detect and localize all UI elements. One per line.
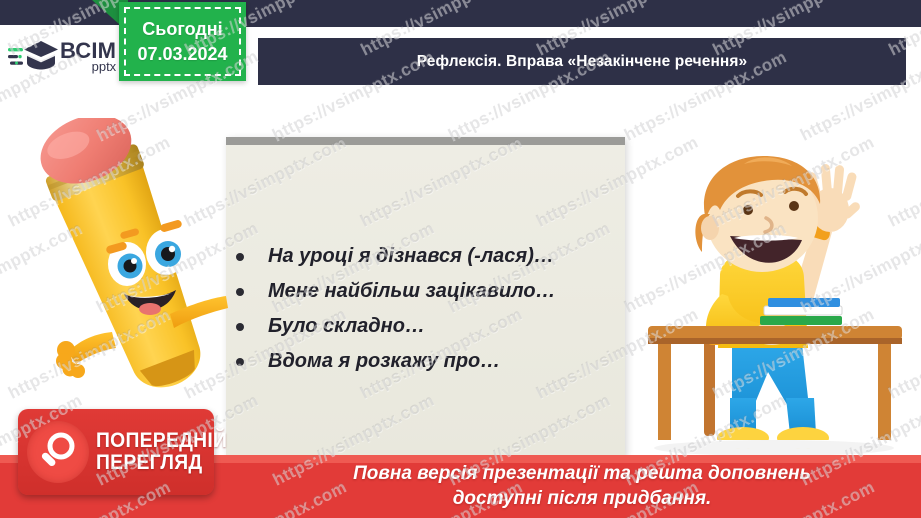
bullet-list: На уроці я дізнався (-лася)… Мене найбіл…	[236, 241, 621, 381]
pencil-character-icon	[20, 118, 235, 413]
bullet-dot-icon	[236, 323, 244, 331]
list-item: Було складно…	[236, 311, 621, 341]
preview-badge-line-1: ПОПЕРЕДНІЙ	[96, 430, 227, 452]
page-title: Рефлексія. Вправа «Незакінчене речення»	[417, 53, 748, 71]
list-item-label: Вдома я розкажу про…	[268, 346, 500, 376]
date-badge-label: Сьогодні	[142, 17, 222, 42]
slide-canvas: ВСІМ pptx Сьогодні 07.03.2024 Рефлексія.…	[0, 0, 921, 518]
banner-line-2: доступні після придбання.	[453, 488, 712, 509]
list-item: Мене найбільш зацікавило…	[236, 276, 621, 306]
graduation-cap-icon	[7, 36, 59, 76]
brand-logo[interactable]: ВСІМ pptx	[0, 25, 131, 87]
list-item: Вдома я розкажу про…	[236, 346, 621, 376]
content-board: На уроці я дізнався (-лася)… Мене найбіл…	[226, 137, 625, 457]
list-item-label: Було складно…	[268, 311, 425, 341]
date-badge-value: 07.03.2024	[137, 42, 227, 67]
board-top-rail	[226, 137, 625, 145]
bullet-dot-icon	[236, 253, 244, 261]
preview-badge[interactable]: ПОПЕРЕДНІЙ ПЕРЕГЛЯД	[18, 409, 214, 495]
magnifier-icon	[27, 421, 89, 483]
list-item: На уроці я дізнався (-лася)…	[236, 241, 621, 271]
banner-line-1: Повна версія презентації та решта доповн…	[353, 463, 811, 484]
list-item-label: На уроці я дізнався (-лася)…	[268, 241, 554, 271]
bullet-dot-icon	[236, 358, 244, 366]
preview-badge-line-2: ПЕРЕГЛЯД	[96, 452, 227, 474]
slide-title-bar: Рефлексія. Вправа «Незакінчене речення»	[258, 38, 906, 85]
date-badge: Сьогодні 07.03.2024	[119, 2, 246, 81]
list-item-label: Мене найбільш зацікавило…	[268, 276, 556, 306]
banner-message: Повна версія презентації та решта доповн…	[258, 461, 906, 511]
raising-hand-boy-icon	[644, 148, 906, 465]
bullet-dot-icon	[236, 288, 244, 296]
